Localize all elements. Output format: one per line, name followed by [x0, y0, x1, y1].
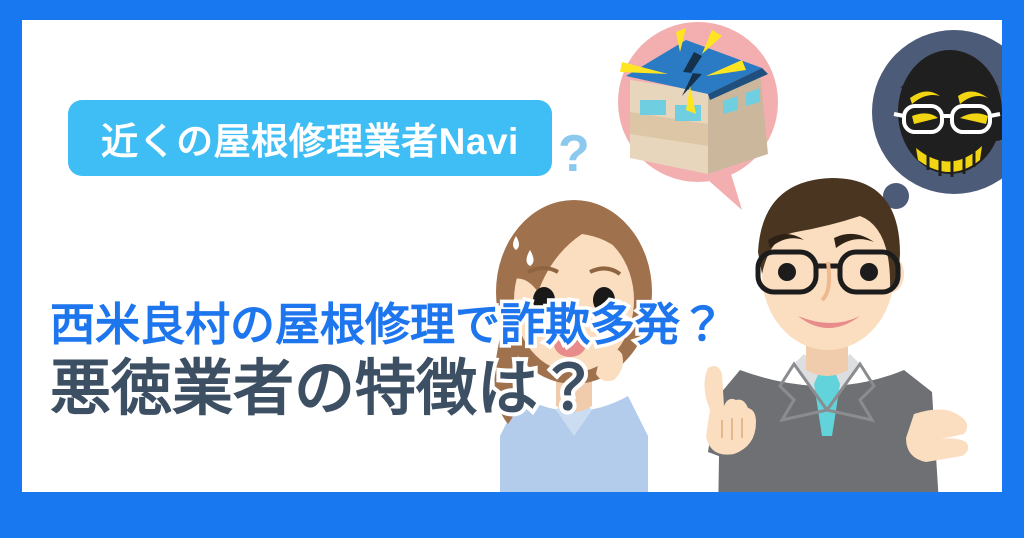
house-window-1	[640, 100, 666, 115]
woman-cheek	[610, 317, 634, 335]
man-svg	[682, 170, 972, 492]
banner-canvas: 近くの屋根修理業者Navi ? 西米良村の屋根修理で詐欺多発？ 悪徳業者の特徴は…	[22, 20, 1002, 492]
woman-svg	[464, 188, 684, 492]
woman-eye-right	[593, 287, 615, 313]
worried-woman	[464, 188, 684, 492]
question-mark-decoration: ?	[558, 128, 590, 180]
woman-mouth	[554, 331, 586, 357]
man-open-hand	[906, 409, 968, 462]
man-eye-left	[778, 263, 796, 281]
man-eye-right	[860, 263, 878, 281]
site-name-badge-label: 近くの屋根修理業者Navi	[101, 111, 519, 165]
promo-banner: 近くの屋根修理業者Navi ? 西米良村の屋根修理で詐欺多発？ 悪徳業者の特徴は…	[0, 0, 1024, 538]
site-name-badge[interactable]: 近くの屋根修理業者Navi	[68, 100, 552, 176]
woman-eye-left	[533, 287, 555, 313]
pointing-businessman	[682, 170, 972, 492]
